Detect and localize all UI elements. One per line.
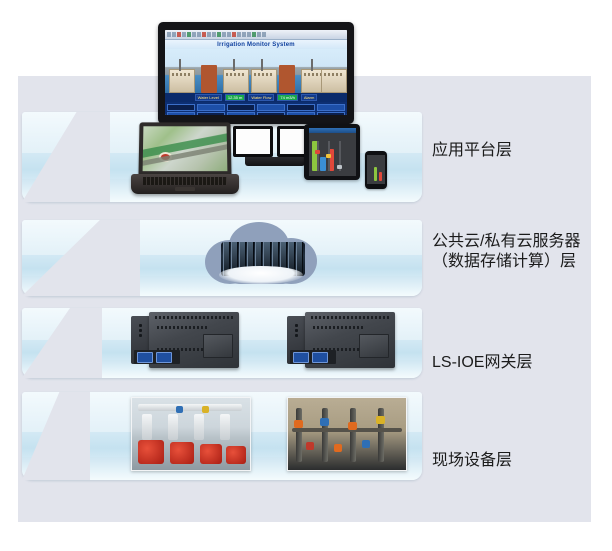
gate-group: [257, 104, 285, 115]
gateway-led-strip: [295, 324, 298, 337]
sub-monitor-left: [233, 126, 273, 157]
cloud-mist: [219, 266, 303, 284]
tablet-titlebar: [309, 128, 356, 133]
map-marker-icon: [161, 154, 170, 160]
gate-readout-grid: [165, 102, 347, 115]
gateway-vent: [157, 326, 209, 329]
laptop-touchpad[interactable]: [175, 187, 195, 191]
gateway-display: [203, 334, 233, 358]
laptop-base: [131, 174, 239, 194]
desktop-monitor: Irrigation Monitor System Water Level 12…: [158, 22, 354, 124]
sub-monitor-left-screen: [236, 129, 270, 154]
gateway-vent: [155, 316, 233, 319]
layer-label-cloud: 公共云/私有云服务器 （数据存储计算）层: [432, 232, 608, 272]
laptop-lid: [138, 122, 231, 176]
status-bar: Water Level 12.35 m Water Flow 74 m3/h A…: [165, 93, 347, 102]
laptop: [131, 122, 239, 196]
tablet: [304, 124, 360, 180]
layer-label-field: 现场设备层: [432, 451, 608, 471]
cloud-server-racks: [205, 222, 317, 288]
gate-group: [287, 104, 315, 115]
status-chip-value: 12.35 m: [225, 94, 245, 101]
gateway-port-block[interactable]: [134, 350, 180, 364]
status-chip-label: Water Flow: [248, 94, 274, 101]
smartphone: [365, 151, 387, 189]
gateway-vent: [311, 316, 389, 319]
slider-knob-yellow[interactable]: [326, 154, 331, 158]
layer-label-application: 应用平台层: [432, 141, 608, 161]
pump-station-photo: [131, 397, 251, 471]
laptop-keyboard[interactable]: [143, 177, 227, 185]
gateway-module-left: [131, 312, 239, 368]
valve-manifold-photo: [287, 397, 407, 471]
gateway-vent: [313, 326, 365, 329]
gate-group: [197, 104, 225, 115]
irrigation-scene-graphic: [165, 49, 347, 93]
app-toolbar[interactable]: [165, 30, 347, 40]
monitor-screen: Irrigation Monitor System Water Level 12…: [165, 30, 347, 115]
phone-bar-red: [379, 172, 382, 181]
laptop-screen-map: [143, 126, 228, 171]
status-chip-value: 74 m3/h: [277, 94, 297, 101]
architecture-diagram: Irrigation Monitor System Water Level 12…: [0, 0, 612, 551]
layer-label-gateway: LS-IOE网关层: [432, 353, 608, 373]
slider-track[interactable]: [317, 141, 319, 171]
gateway-port-block[interactable]: [290, 350, 336, 364]
tablet-screen-dashboard: [309, 128, 356, 176]
gateway-module-right: [287, 312, 395, 368]
phone-bar-green: [374, 167, 377, 181]
gate-group: [317, 104, 345, 115]
monitor-stand: [245, 157, 305, 166]
bar-blue: [320, 157, 326, 171]
smartphone-screen: [367, 155, 385, 184]
gate-group: [167, 104, 195, 115]
slider-knob-grey[interactable]: [337, 165, 342, 169]
status-chip-label: Alarm: [301, 94, 317, 101]
gateway-display: [359, 334, 389, 358]
status-chip-label: Water Level: [195, 94, 222, 101]
gateway-led-strip: [139, 324, 142, 337]
gate-group: [227, 104, 255, 115]
slider-knob-red[interactable]: [315, 150, 320, 154]
app-title: Irrigation Monitor System: [165, 40, 347, 49]
